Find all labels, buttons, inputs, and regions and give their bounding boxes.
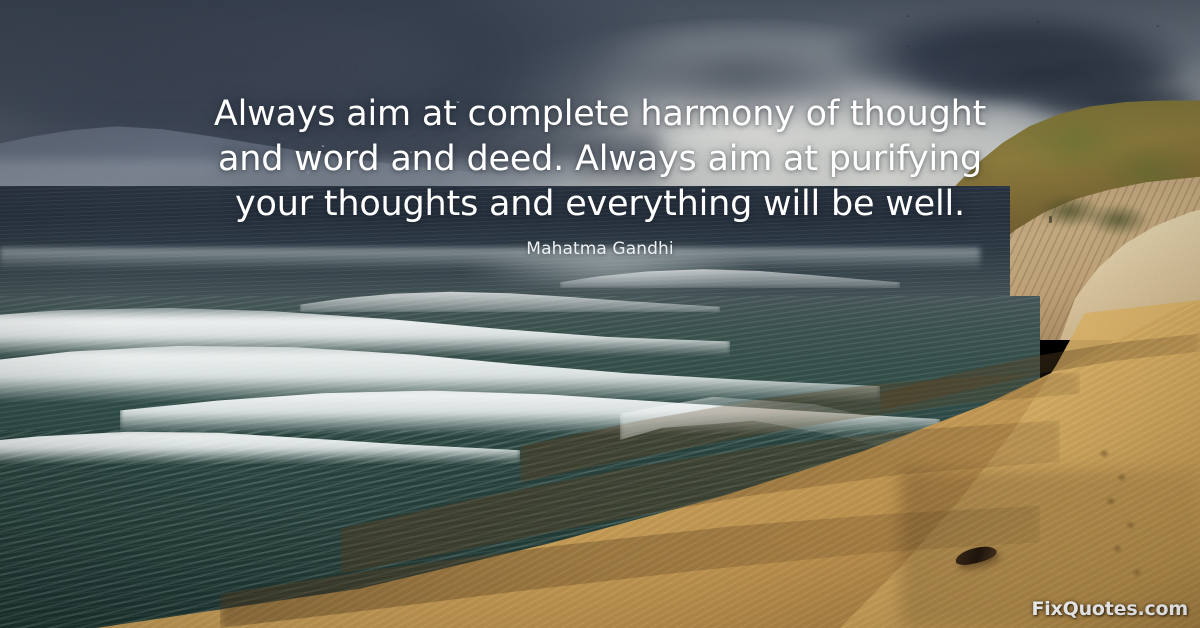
site-watermark[interactable]: FixQuotes.com xyxy=(1032,598,1189,620)
bird-icon: ⌄ xyxy=(1155,22,1161,29)
quote-block: Always aim at complete harmony of though… xyxy=(0,92,1200,227)
quote-author: Mahatma Gandhi xyxy=(0,239,1200,259)
quote-image-canvas: ⌄⌄⌄⌄⌄⌄⌄⌄⌄⌄⌄⌄ Always aim at complete harm… xyxy=(0,0,1200,628)
bird-icon: ⌄ xyxy=(905,42,911,49)
bird-icon: ⌄ xyxy=(905,12,911,19)
footprints-in-sand xyxy=(1080,440,1190,610)
quote-text: Always aim at complete harmony of though… xyxy=(120,92,1080,227)
bird-icon: ⌄ xyxy=(1035,18,1041,25)
